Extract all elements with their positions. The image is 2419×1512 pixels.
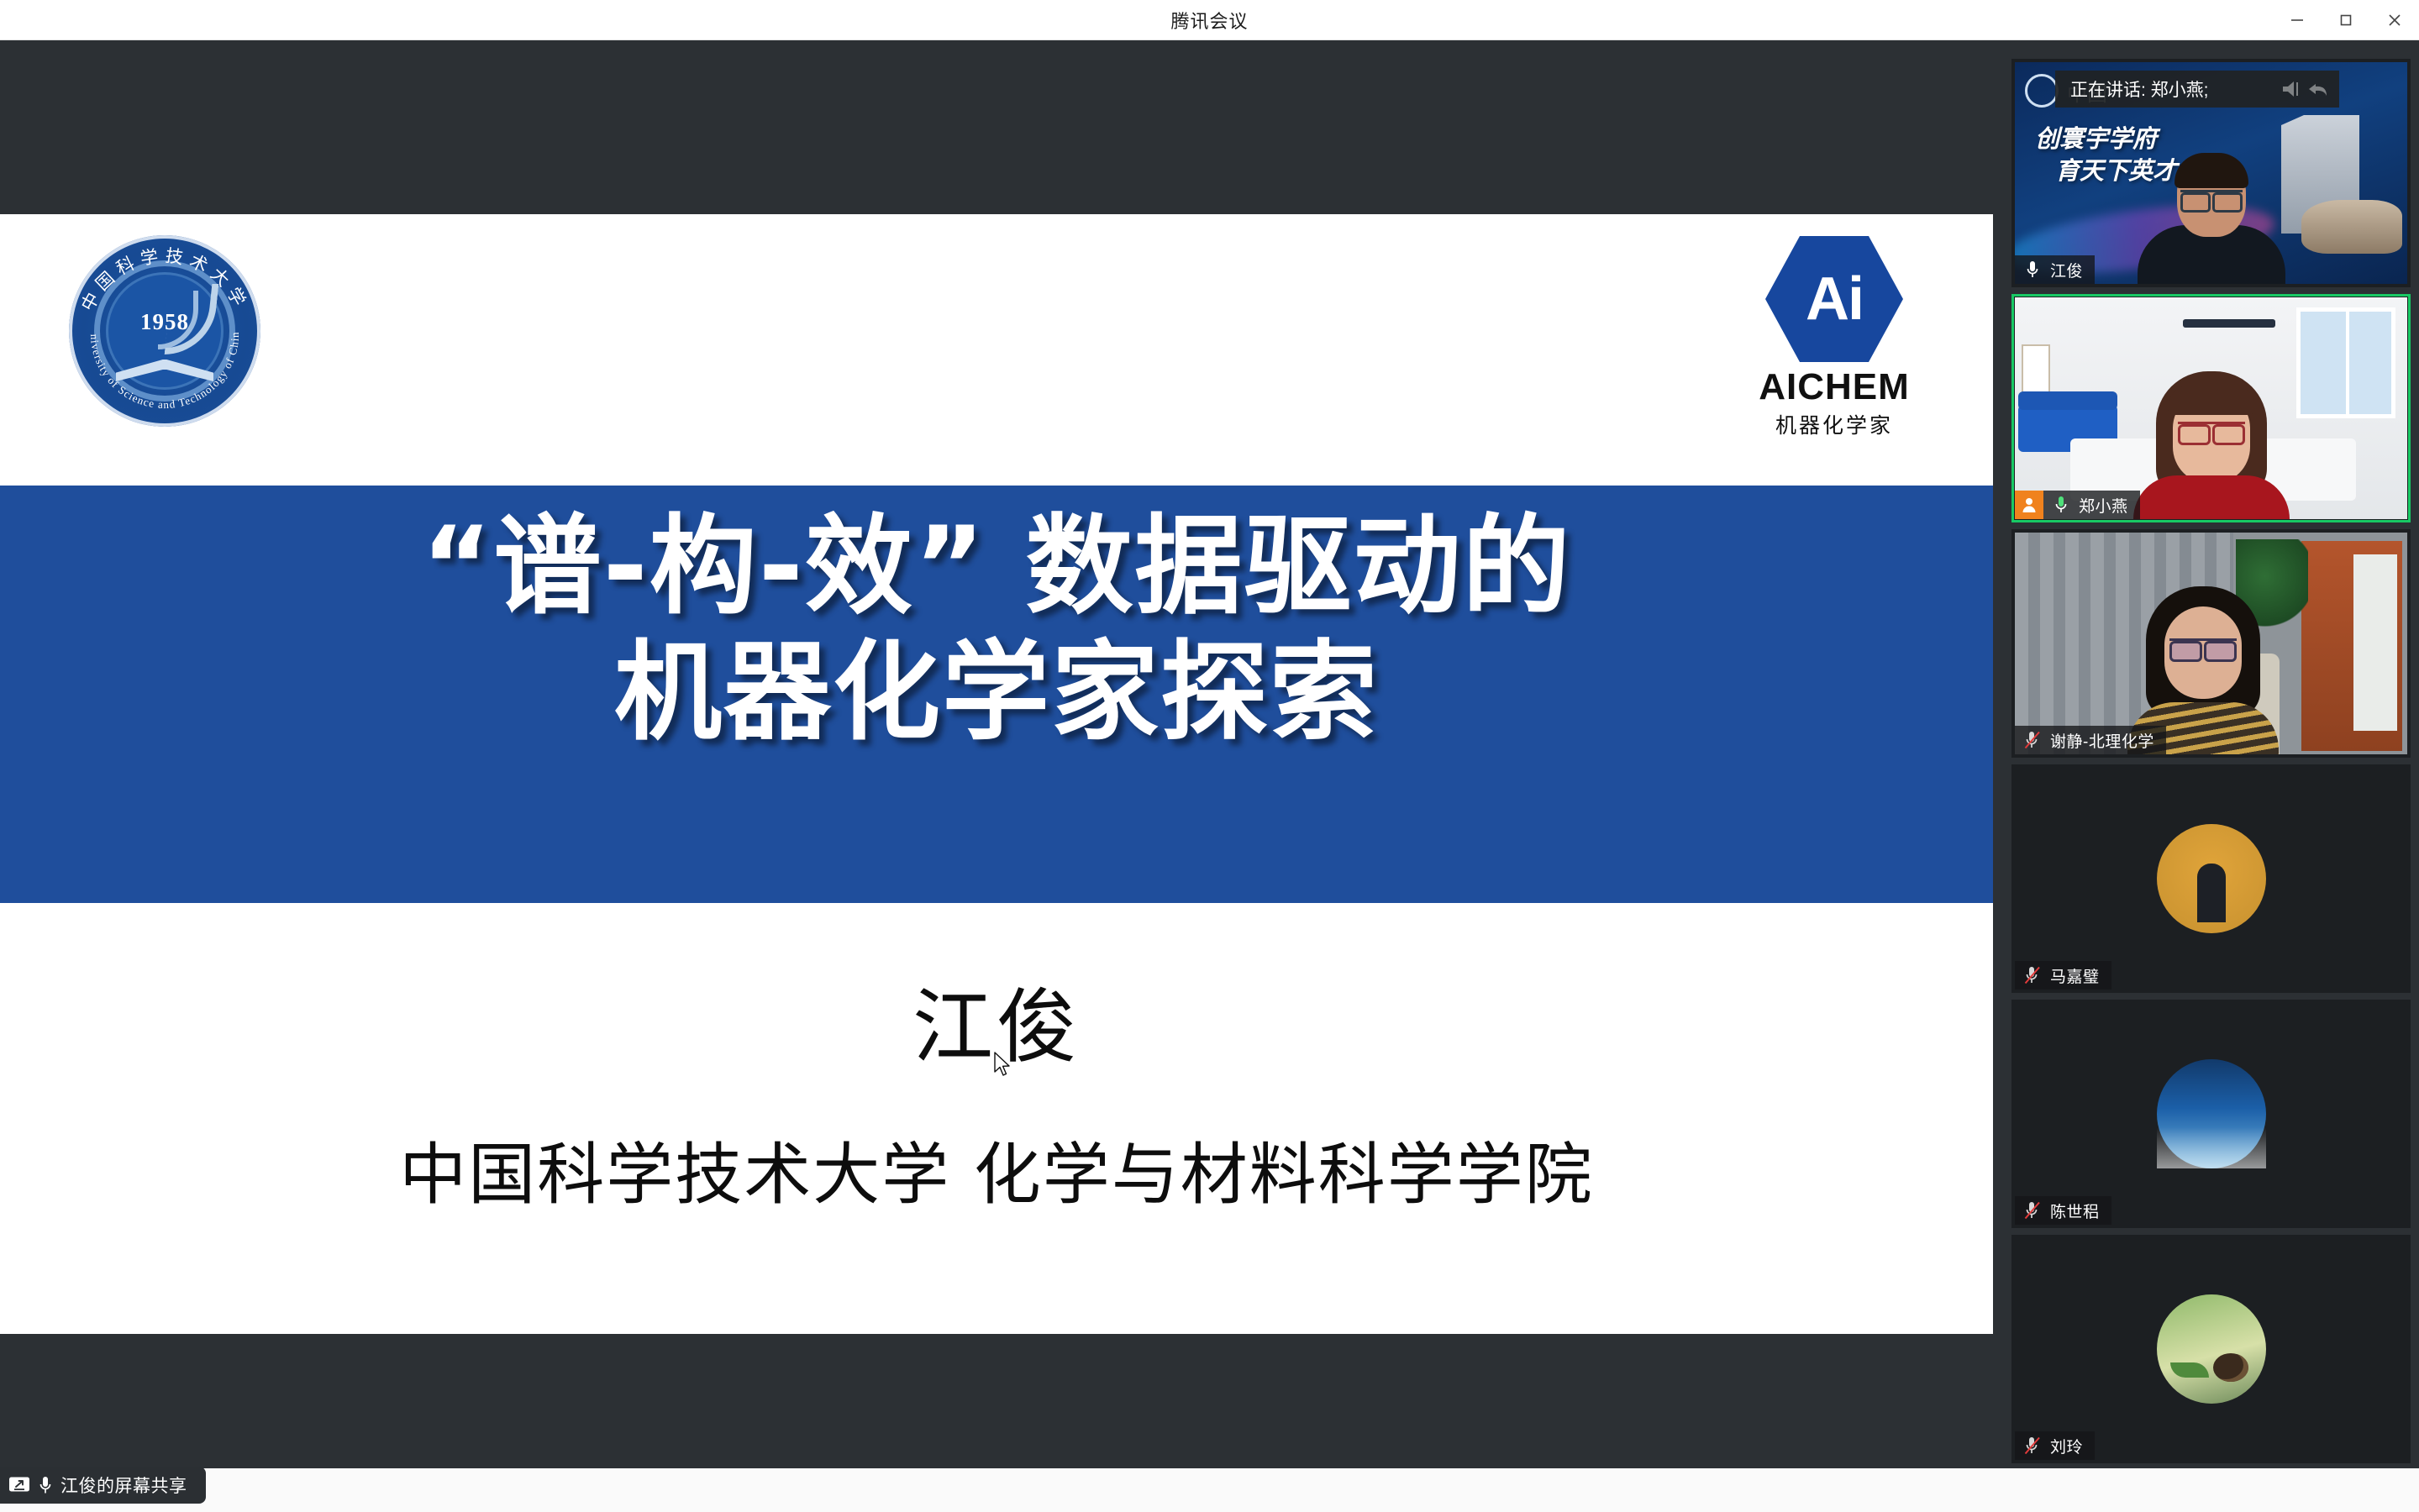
window-titlebar: 腾讯会议 [0,0,2419,40]
participant-tile-jiangjun[interactable]: 中国 创寰宇学府 育天下英才 正在讲话: 郑小燕; [2011,59,2411,287]
window-title: 腾讯会议 [1170,7,1248,34]
aichem-mark-text: Ai [1765,236,1903,362]
aichem-wordmark: AICHEM [1759,369,1910,406]
window-controls [2273,0,2419,40]
slide-author-block: 江俊 中国科学技术大学 化学与材料科学学院 [0,903,1993,1334]
participant-video [2015,1238,2407,1460]
participant-namebar: 陈世稆 [2015,1196,2111,1225]
avatar [2157,824,2266,933]
participant-person-figure [2137,156,2286,284]
participant-name: 陈世稆 [2050,1200,2100,1222]
svg-text:University of Science and Tech: University of Science and Technology of … [69,235,241,411]
ustc-seal-icon: 1958 中国科学技术大学 University of Science and … [69,235,260,427]
room-window [2296,307,2395,418]
aichem-logo: Ai AICHEM 机器化学家 [1729,236,1939,439]
participant-name: 郑小燕 [2079,494,2128,517]
mouse-cursor-icon [994,1052,1012,1079]
presentation-slide[interactable]: 1958 中国科学技术大学 University of Science and … [0,214,1993,1334]
mic-on-icon [2020,260,2045,280]
slide-affiliation: 中国科学技术大学 化学与材料科学学院 [0,1121,1993,1218]
slide-header: 1958 中国科学技术大学 University of Science and … [0,214,1993,486]
participant-name: 谢静-北理化学 [2050,729,2154,752]
participant-video [2015,1003,2407,1225]
participant-video [2015,768,2407,990]
participant-tile-liuling[interactable]: 刘玲 [2011,1235,2411,1463]
mic-on-icon [2048,495,2074,515]
minimize-button[interactable] [2273,0,2322,40]
participant-rail[interactable]: 中国 创寰宇学府 育天下英才 正在讲话: 郑小燕; [2003,40,2419,1468]
participant-name: 刘玲 [2050,1435,2083,1457]
volume-icon [2281,79,2305,99]
mic-off-icon [2020,1200,2045,1221]
shared-screen-stage[interactable]: 1958 中国科学技术大学 University of Science and … [0,40,2003,1468]
maximize-button[interactable] [2322,0,2370,40]
screen-share-indicator[interactable]: 江俊的屏幕共享 [0,1467,206,1504]
participant-tile-chenshilu[interactable]: 陈世稆 [2011,1000,2411,1228]
mic-off-icon [2020,1436,2045,1456]
active-speaker-text: 正在讲话: 郑小燕; [2070,76,2209,102]
participant-person-figure [2132,371,2291,519]
mic-off-icon [2020,730,2045,750]
participant-tile-majiabi[interactable]: 马嘉璧 [2011,764,2411,993]
participant-namebar: 刘玲 [2015,1431,2095,1460]
status-bar: 江俊的屏幕共享 [0,1468,2419,1512]
virtual-bg-rock [2301,200,2402,254]
reply-icon [2307,79,2329,99]
aichem-hexagon-icon: Ai [1765,236,1903,362]
screen-share-label: 江俊的屏幕共享 [60,1473,187,1498]
participant-tile-zhengxiaoyan[interactable]: 郑小燕 [2011,294,2411,522]
mic-icon [39,1475,52,1495]
slide-title-band: “谱-构-效” 数据驱动的 机器化学家探索 [0,486,1993,903]
banner-icons [2281,79,2329,99]
mic-off-icon [2020,965,2045,985]
participant-namebar: 马嘉璧 [2015,961,2111,990]
participant-namebar: 谢静-北理化学 [2015,726,2166,754]
participant-name: 马嘉璧 [2050,964,2100,987]
slide-title-line-1: “谱-构-效” 数据驱动的 [0,504,1993,630]
participant-video [2015,297,2407,519]
ustc-logo: 1958 中国科学技术大学 University of Science and … [69,235,260,427]
host-badge-icon [2015,491,2043,519]
slide-title-line-2: 机器化学家探索 [0,630,1993,756]
close-button[interactable] [2370,0,2419,40]
participant-tile-xiejing[interactable]: 谢静-北理化学 [2011,529,2411,758]
tencent-meeting-window: 腾讯会议 [0,0,2419,1512]
participant-name: 江俊 [2050,259,2083,281]
virtual-bg-seal-icon [2025,74,2059,108]
screen-share-icon [8,1476,30,1494]
avatar [2157,1059,2266,1168]
room-artwork [2022,344,2050,396]
participant-namebar: 江俊 [2015,255,2095,284]
participant-namebar: 郑小燕 [2015,491,2140,519]
active-speaker-banner: 正在讲话: 郑小燕; [2055,71,2339,108]
avatar [2157,1294,2266,1404]
aichem-subtitle: 机器化学家 [1775,409,1893,439]
participant-video [2015,533,2407,754]
